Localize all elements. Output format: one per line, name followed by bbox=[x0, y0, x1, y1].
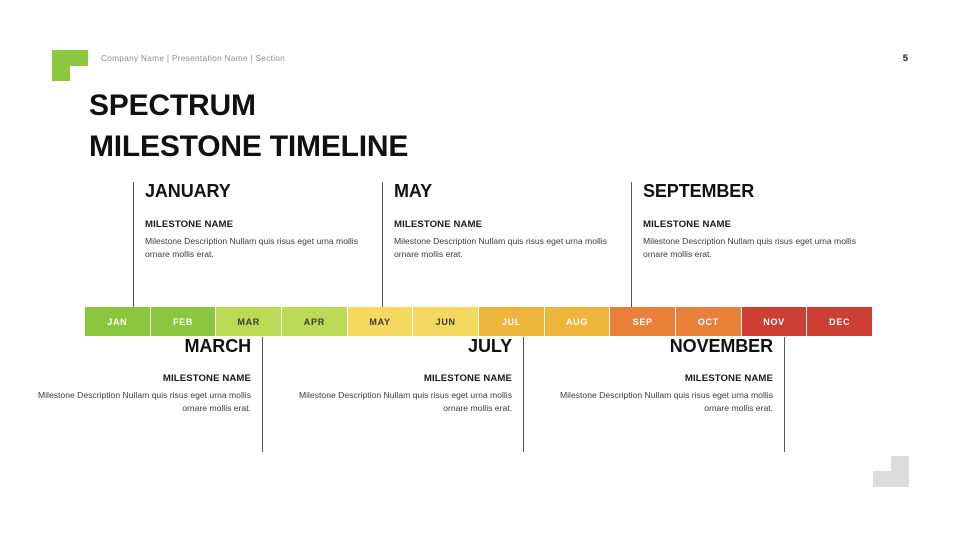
milestone-name: MILESTONE NAME bbox=[643, 219, 883, 230]
milestone-card-july: JULY MILESTONE NAME Milestone Descriptio… bbox=[272, 337, 524, 452]
milestone-month: MAY bbox=[394, 182, 634, 200]
timeline-month-feb[interactable]: FEB bbox=[151, 307, 217, 336]
milestone-description: Milestone Description Nullam quis risus … bbox=[272, 389, 512, 416]
milestone-description: Milestone Description Nullam quis risus … bbox=[11, 389, 251, 416]
page-title: SPECTRUM MILESTONE TIMELINE bbox=[89, 86, 408, 168]
milestone-card-march: MARCH MILESTONE NAME Milestone Descripti… bbox=[11, 337, 263, 452]
milestone-description: Milestone Description Nullam quis risus … bbox=[394, 235, 634, 262]
milestone-month: MARCH bbox=[11, 337, 251, 355]
timeline-month-jun[interactable]: JUN bbox=[413, 307, 479, 336]
timeline-month-sep[interactable]: SEP bbox=[610, 307, 676, 336]
logo-left-leg bbox=[52, 66, 70, 81]
timeline-month-aug[interactable]: AUG bbox=[545, 307, 611, 336]
milestone-card-january: JANUARY MILESTONE NAME Milestone Descrip… bbox=[133, 182, 385, 307]
timeline-month-dec[interactable]: DEC bbox=[807, 307, 872, 336]
decoration-right-leg bbox=[891, 456, 909, 471]
timeline-month-jan[interactable]: JAN bbox=[85, 307, 151, 336]
milestone-month: NOVEMBER bbox=[533, 337, 773, 355]
timeline-month-apr[interactable]: APR bbox=[282, 307, 348, 336]
timeline-month-mar[interactable]: MAR bbox=[216, 307, 282, 336]
timeline-month-oct[interactable]: OCT bbox=[676, 307, 742, 336]
milestone-card-november: NOVEMBER MILESTONE NAME Milestone Descri… bbox=[533, 337, 785, 452]
milestone-name: MILESTONE NAME bbox=[11, 373, 251, 384]
decoration-bottom-bar bbox=[873, 471, 909, 487]
milestone-description: Milestone Description Nullam quis risus … bbox=[533, 389, 773, 416]
milestone-month: JANUARY bbox=[145, 182, 385, 200]
timeline-bar: JAN FEB MAR APR MAY JUN JUL AUG SEP OCT … bbox=[85, 307, 872, 336]
milestone-name: MILESTONE NAME bbox=[145, 219, 385, 230]
milestone-description: Milestone Description Nullam quis risus … bbox=[145, 235, 385, 262]
milestone-name: MILESTONE NAME bbox=[272, 373, 512, 384]
page-number: 5 bbox=[903, 53, 908, 64]
breadcrumb: Company Name | Presentation Name | Secti… bbox=[101, 54, 285, 63]
milestone-name: MILESTONE NAME bbox=[533, 373, 773, 384]
milestone-card-may: MAY MILESTONE NAME Milestone Description… bbox=[382, 182, 634, 307]
timeline-month-may[interactable]: MAY bbox=[348, 307, 414, 336]
milestone-card-september: SEPTEMBER MILESTONE NAME Milestone Descr… bbox=[631, 182, 883, 307]
page-title-line-2: MILESTONE TIMELINE bbox=[89, 127, 408, 168]
page-title-line-1: SPECTRUM bbox=[89, 86, 408, 127]
corner-bracket-decoration-icon bbox=[873, 456, 909, 487]
milestone-month: SEPTEMBER bbox=[643, 182, 883, 200]
timeline-month-nov[interactable]: NOV bbox=[742, 307, 808, 336]
timeline-month-jul[interactable]: JUL bbox=[479, 307, 545, 336]
corner-bracket-logo-icon bbox=[52, 50, 88, 81]
milestone-description: Milestone Description Nullam quis risus … bbox=[643, 235, 883, 262]
logo-top-bar bbox=[52, 50, 88, 66]
milestone-month: JULY bbox=[272, 337, 512, 355]
milestone-name: MILESTONE NAME bbox=[394, 219, 634, 230]
